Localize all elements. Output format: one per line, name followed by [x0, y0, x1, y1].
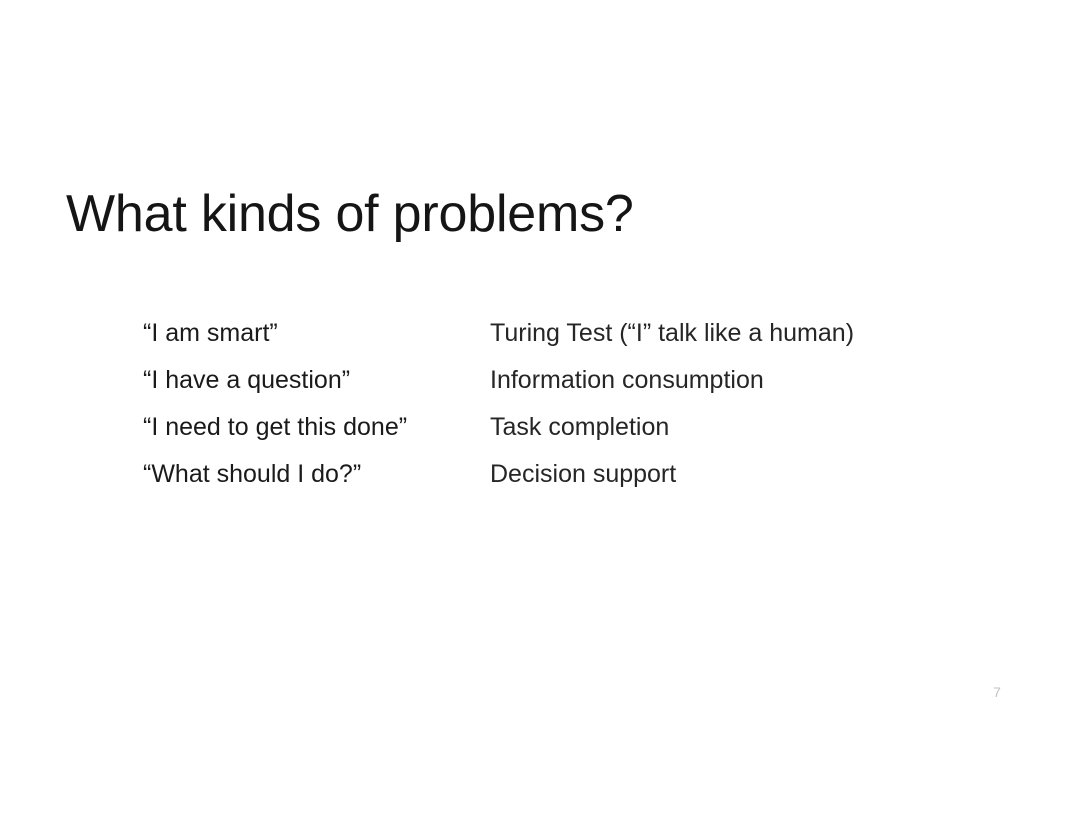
table-row: “I am smart” Turing Test (“I” talk like … — [143, 318, 943, 365]
user-utterance-quote: “What should I do?” — [143, 459, 490, 489]
user-utterance-quote: “I am smart” — [143, 318, 490, 348]
user-utterance-quote: “I need to get this done” — [143, 412, 490, 442]
problem-category-label: Decision support — [490, 459, 943, 489]
table-row: “I have a question” Information consumpt… — [143, 365, 943, 412]
slide-number: 7 — [986, 683, 1008, 701]
problem-category-label: Task completion — [490, 412, 943, 442]
problem-kinds-table: “I am smart” Turing Test (“I” talk like … — [143, 318, 943, 506]
slide-title: What kinds of problems? — [66, 185, 634, 243]
problem-category-label: Turing Test (“I” talk like a human) — [490, 318, 943, 348]
problem-category-label: Information consumption — [490, 365, 943, 395]
table-row: “I need to get this done” Task completio… — [143, 412, 943, 459]
table-row: “What should I do?” Decision support — [143, 459, 943, 506]
user-utterance-quote: “I have a question” — [143, 365, 490, 395]
slide-canvas: What kinds of problems? “I am smart” Tur… — [0, 0, 1080, 835]
